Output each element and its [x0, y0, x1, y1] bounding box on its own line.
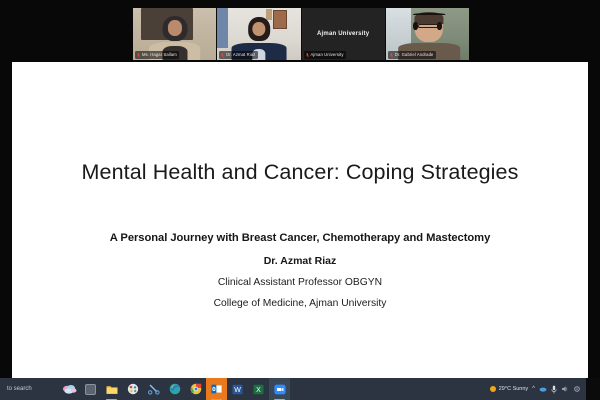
- weather-text: 29°C Sunny: [499, 386, 528, 392]
- participant-name-text: Dr. Gabriel Andrade: [395, 53, 434, 57]
- mic-muted-icon: [221, 53, 224, 58]
- outlook-icon[interactable]: [206, 378, 227, 400]
- slide-subtitle-block: A Personal Journey with Breast Cancer, C…: [12, 232, 588, 309]
- participant-name-text: Ms. Hagar Sallam: [142, 53, 177, 57]
- participant-name-badge: Dr. Gabriel Andrade: [388, 51, 436, 59]
- microphone-icon[interactable]: [551, 385, 557, 394]
- scissors-icon: [148, 383, 160, 395]
- windows-logo-icon: [63, 383, 77, 395]
- sun-icon: [490, 386, 496, 392]
- svg-text:W: W: [234, 387, 241, 394]
- clock-area[interactable]: [586, 378, 600, 400]
- paint-icon[interactable]: [122, 378, 143, 400]
- edge-logo-icon: [169, 383, 181, 395]
- participant-name-badge: Dr. Azmat Riaz: [219, 51, 258, 59]
- zoom-icon[interactable]: [269, 378, 290, 400]
- slide-presenter-affiliation: College of Medicine, Ajman University: [12, 298, 588, 309]
- volume-icon[interactable]: [561, 385, 569, 393]
- desktop-screen: Ms. Hagar Sallam Dr. Azmat Riaz: [0, 0, 600, 400]
- taskbar-system-tray: 29°C Sunny ^: [490, 385, 586, 394]
- placeholder-name-label: Ajman University: [302, 31, 385, 37]
- zoom-logo-icon: [274, 384, 286, 395]
- participant-name-text: Dr. Azmat Riaz: [226, 53, 255, 57]
- participant-tile[interactable]: Ajman University Ajman University: [302, 8, 385, 60]
- participant-name-badge: Ajman University: [304, 51, 347, 59]
- chrome-logo-icon: [190, 383, 202, 395]
- participant-tile[interactable]: Ms. Hagar Sallam: [133, 8, 216, 60]
- weather-widget[interactable]: 29°C Sunny: [490, 386, 528, 392]
- participant-name-badge: Ms. Hagar Sallam: [135, 51, 179, 59]
- network-icon[interactable]: [539, 385, 547, 393]
- file-explorer-icon[interactable]: [101, 378, 122, 400]
- slide-title: Mental Health and Cancer: Coping Strateg…: [12, 160, 588, 185]
- start-button[interactable]: [59, 378, 80, 400]
- mic-muted-icon: [137, 53, 140, 58]
- paint-palette-icon: [127, 383, 139, 395]
- taskbar-search-box[interactable]: to search: [7, 386, 59, 392]
- slide-presenter-role: Clinical Assistant Professor OBGYN: [12, 277, 588, 288]
- settings-gear-icon[interactable]: [573, 385, 581, 393]
- task-view-icon[interactable]: [80, 378, 101, 400]
- svg-text:X: X: [256, 387, 261, 394]
- snipping-tool-icon[interactable]: [143, 378, 164, 400]
- taskbar-pinned-apps: W X: [59, 378, 290, 400]
- shared-slide: Mental Health and Cancer: Coping Strateg…: [12, 62, 588, 378]
- word-icon[interactable]: W: [227, 378, 248, 400]
- slide-presenter-name: Dr. Azmat Riaz: [12, 255, 588, 267]
- edge-browser-icon[interactable]: [164, 378, 185, 400]
- windows-taskbar: to search: [0, 378, 600, 400]
- participant-filmstrip: Ms. Hagar Sallam Dr. Azmat Riaz: [133, 8, 469, 60]
- chrome-browser-icon[interactable]: [185, 378, 206, 400]
- excel-logo-icon: X: [253, 384, 264, 395]
- excel-icon[interactable]: X: [248, 378, 269, 400]
- participant-tile[interactable]: Dr. Azmat Riaz: [217, 8, 300, 60]
- slide-subtitle: A Personal Journey with Breast Cancer, C…: [12, 232, 588, 244]
- mic-muted-icon: [306, 53, 309, 58]
- show-hidden-icons-button[interactable]: ^: [532, 386, 535, 392]
- mic-muted-icon: [390, 53, 393, 58]
- outlook-logo-icon: [211, 384, 222, 394]
- participant-name-text: Ajman University: [311, 53, 344, 57]
- participant-tile-active-speaker[interactable]: Dr. Gabriel Andrade: [386, 8, 469, 60]
- word-logo-icon: W: [232, 384, 243, 395]
- folder-icon: [106, 384, 118, 395]
